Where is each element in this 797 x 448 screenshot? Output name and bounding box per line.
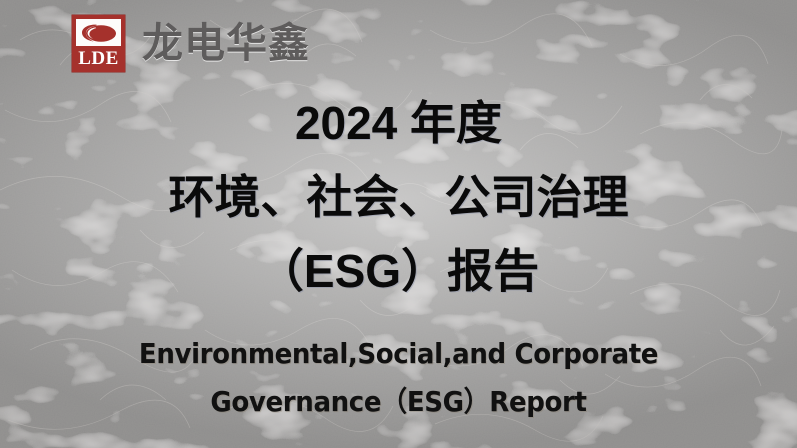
- lde-logo-mark: LDE: [72, 15, 125, 72]
- page-title: 2024 年度 环境、社会、公司治理 （ESG）报告: [0, 86, 797, 308]
- page-subtitle: Environmental,Social,and Corporate Gover…: [0, 330, 797, 426]
- company-logo: LDE 龙电华鑫: [72, 15, 310, 72]
- title-slide: LDE 龙电华鑫 2024 年度 环境、社会、公司治理 （ESG）报告 Envi…: [0, 0, 797, 448]
- subtitle-line-1: Environmental,Social,and Corporate: [28, 330, 769, 378]
- subtitle-line-2: Governance（ESG）Report: [28, 378, 769, 426]
- logo-abbreviation: LDE: [72, 48, 125, 70]
- logo-wordmark: 龙电华鑫: [142, 23, 310, 64]
- title-line-year: 2024 年度: [0, 86, 797, 160]
- title-line-topic: 环境、社会、公司治理: [0, 160, 797, 234]
- logo-inner-panel: [76, 19, 121, 46]
- logo-swoosh-icon: [79, 22, 119, 44]
- title-line-report: （ESG）报告: [0, 234, 797, 308]
